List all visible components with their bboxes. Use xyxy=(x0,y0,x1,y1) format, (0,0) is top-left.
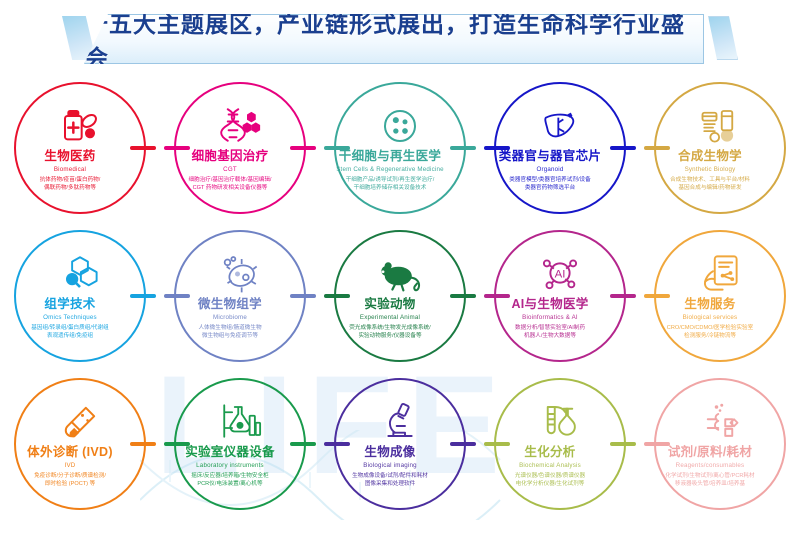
zone-desc-line-1: 合成生物技术、工具与平台/材料 xyxy=(634,176,786,185)
microscope-icon xyxy=(380,396,420,442)
zone-cell: 合成生物学 Synthetic Biology 合成生物技术、工具与平台/材料 … xyxy=(640,78,800,226)
zone-name-cn: 生化分析 xyxy=(474,445,626,459)
dna-helix-cells-icon xyxy=(219,100,261,146)
zone-desc-line-2: 基因合成与编辑/药物研发 xyxy=(634,184,786,193)
molecule-magnifier-icon xyxy=(59,248,101,294)
zone-description: 数据分析/智慧实验室/AI制药 机器人/生物大数据等 xyxy=(474,324,626,341)
zone-name-cn: 实验动物 xyxy=(314,297,466,311)
zone-labels: 组学技术 Omics Techniques 基因组/转录组/蛋白质组/代谢组 表… xyxy=(0,297,146,341)
zone-name-cn: 体外诊断 (IVD) xyxy=(0,445,146,459)
zone-description: 干细胞产品/诱导试剂/再生医学治疗/ 干细胞培养储存相关设备技术 xyxy=(314,176,466,193)
zone-desc-line-1: 化学试剂/生物试剂/离心管/PCR耗材 xyxy=(634,472,786,481)
zone-labels: 干细胞与再生医学 Stem Cells & Regenerative Medic… xyxy=(314,149,466,193)
zone-name-en: Omics Techniques xyxy=(0,313,146,322)
medicine-bottle-pill-icon xyxy=(60,100,100,146)
zone-desc-line-2: 检测服务/冷链物流等 xyxy=(634,332,786,341)
zone-name-cn: 试剂/原料/耗材 xyxy=(634,445,786,459)
svg-text:AI: AI xyxy=(555,268,566,280)
zone-circle-stem-cells[interactable]: 干细胞与再生医学 Stem Cells & Regenerative Medic… xyxy=(334,82,466,214)
zone-desc-line-1: 光谱仪器/色谱仪器/质谱仪器 xyxy=(474,472,626,481)
zone-description: 合成生物技术、工具与平台/材料 基因合成与编辑/药物研发 xyxy=(634,176,786,193)
zone-name-en: Reagents/consumables xyxy=(634,461,786,470)
zone-description: 摇床/反应器/培养箱/生物安全柜 PCR仪/电泳装置/离心机等 xyxy=(154,472,306,489)
zone-desc-line-1: 荧光成像系统/生物发光成像系统/ xyxy=(314,324,466,333)
zone-desc-line-1: 数据分析/智慧实验室/AI制药 xyxy=(474,324,626,333)
header-banner: 十五大主题展区，产业链形式展出，打造生命科学行业盛会 xyxy=(62,14,738,62)
zone-circle-organoid[interactable]: 类器官与器官芯片 Organoid 类器官模型/类器官培养试剂/设备 类器官药物… xyxy=(494,82,626,214)
zone-labels: 细胞基因治疗 CGT 细胞治疗/基因治疗载体/基因编辑/ CGT 药物研发相关设… xyxy=(154,149,306,193)
zone-circle-omics[interactable]: 组学技术 Omics Techniques 基因组/转录组/蛋白质组/代谢组 表… xyxy=(14,230,146,362)
zone-cell: 实验室仪器设备 Laboratory instruments 摇床/反应器/培养… xyxy=(160,374,320,522)
zone-name-cn: 生物医药 xyxy=(0,149,146,163)
zone-labels: 生物医药 Biomedical 抗体药物/疫苗/蛋白药物/ 偶联药物/多肽药物等 xyxy=(0,149,146,193)
zone-circle-cgt[interactable]: 细胞基因治疗 CGT 细胞治疗/基因治疗载体/基因编辑/ CGT 药物研发相关设… xyxy=(174,82,306,214)
zone-name-cn: AI与生物医学 xyxy=(474,297,626,311)
zone-circle-biomedical[interactable]: 生物医药 Biomedical 抗体药物/疫苗/蛋白药物/ 偶联药物/多肽药物等 xyxy=(14,82,146,214)
zone-cell: 生物医药 Biomedical 抗体药物/疫苗/蛋白药物/ 偶联药物/多肽药物等 xyxy=(0,78,160,226)
zone-circle-experimental-animal[interactable]: 实验动物 Experimental Animal 荧光成像系统/生物发光成像系统… xyxy=(334,230,466,362)
zone-desc-line-1: 干细胞产品/诱导试剂/再生医学治疗/ xyxy=(314,176,466,185)
zone-desc-line-2: 机器人/生物大数据等 xyxy=(474,332,626,341)
zone-desc-line-1: 类器官模型/类器官培养试剂/设备 xyxy=(474,176,626,185)
zone-cell: AI AI与生物医学 Bioinformatics & AI 数据分析/智慧实验… xyxy=(480,226,640,374)
zone-cell: 试剂/原料/耗材 Reagents/consumables 化学试剂/生物试剂/… xyxy=(640,374,800,522)
zone-desc-line-2: 电化学分析仪器/生化试剂等 xyxy=(474,480,626,489)
zone-cell: 生化分析 Biochemical Analysis 光谱仪器/色谱仪器/质谱仪器… xyxy=(480,374,640,522)
zone-circle-synthetic-biology[interactable]: 合成生物学 Synthetic Biology 合成生物技术、工具与平台/材料 … xyxy=(654,82,786,214)
zone-name-cn: 干细胞与再生医学 xyxy=(314,149,466,163)
zone-name-en: Organoid xyxy=(474,165,626,174)
zone-name-cn: 类器官与器官芯片 xyxy=(474,149,626,163)
test-tube-icon xyxy=(60,396,100,442)
zone-labels: 生化分析 Biochemical Analysis 光谱仪器/色谱仪器/质谱仪器… xyxy=(474,445,626,489)
zone-desc-line-1: 基因组/转录组/蛋白质组/代谢组 xyxy=(0,324,146,333)
zone-desc-line-2: 干细胞培养储存相关设备技术 xyxy=(314,184,466,193)
zone-desc-line-1: 免疫诊断/分子诊断/质谱检测/ xyxy=(0,472,146,481)
zones-grid: 生物医药 Biomedical 抗体药物/疫苗/蛋白药物/ 偶联药物/多肽药物等… xyxy=(0,78,800,528)
zone-labels: 体外诊断 (IVD) IVD 免疫诊断/分子诊断/质谱检测/ 即时检验 (POC… xyxy=(0,445,146,489)
zone-name-cn: 细胞基因治疗 xyxy=(154,149,306,163)
zone-desc-line-2: CGT 药物研发相关设备仪器等 xyxy=(154,184,306,193)
zone-name-en: Microbiome xyxy=(154,313,306,322)
zone-circle-ivd[interactable]: 体外诊断 (IVD) IVD 免疫诊断/分子诊断/质谱检测/ 即时检验 (POC… xyxy=(14,378,146,510)
zone-name-en: Biomedical xyxy=(0,165,146,174)
zone-circle-biochemical-analysis[interactable]: 生化分析 Biochemical Analysis 光谱仪器/色谱仪器/质谱仪器… xyxy=(494,378,626,510)
banner-right-decoration xyxy=(708,16,738,60)
page-title: 十五大主题展区，产业链形式展出，打造生命科学行业盛会 xyxy=(85,5,703,73)
zone-name-cn: 合成生物学 xyxy=(634,149,786,163)
zone-description: 光谱仪器/色谱仪器/质谱仪器 电化学分析仪器/生化试剂等 xyxy=(474,472,626,489)
zone-desc-line-2: 实验动物服务/仪器设备等 xyxy=(314,332,466,341)
zone-desc-line-1: 抗体药物/疫苗/蛋白药物/ xyxy=(0,176,146,185)
zone-desc-line-1: 人体微生物组/肠道微生物 xyxy=(154,324,306,333)
zone-description: 基因组/转录组/蛋白质组/代谢组 表观遗传组/免疫组 xyxy=(0,324,146,341)
zone-labels: 合成生物学 Synthetic Biology 合成生物技术、工具与平台/材料 … xyxy=(634,149,786,193)
zone-name-cn: 生物成像 xyxy=(314,445,466,459)
zone-cell: 类器官与器官芯片 Organoid 类器官模型/类器官培养试剂/设备 类器官药物… xyxy=(480,78,640,226)
zone-cell: 干细胞与再生医学 Stem Cells & Regenerative Medic… xyxy=(320,78,480,226)
zone-desc-line-2: 图像采集和处理软件 xyxy=(314,480,466,489)
bioreactor-flask-icon xyxy=(699,100,741,146)
pipette-tips-icon xyxy=(699,396,741,442)
zone-circle-biological-services[interactable]: 生物服务 Biological services CRO/CMO/CDMO/医学… xyxy=(654,230,786,362)
zone-cell: 细胞基因治疗 CGT 细胞治疗/基因治疗载体/基因编辑/ CGT 药物研发相关设… xyxy=(160,78,320,226)
zone-description: 荧光成像系统/生物发光成像系统/ 实验动物服务/仪器设备等 xyxy=(314,324,466,341)
zone-name-cn: 生物服务 xyxy=(634,297,786,311)
zone-desc-line-2: 微生物组与免疫调节等 xyxy=(154,332,306,341)
zone-description: CRO/CMO/CDMO/医学检验实验室 检测服务/冷链物流等 xyxy=(634,324,786,341)
zone-labels: 微生物组学 Microbiome 人体微生物组/肠道微生物 微生物组与免疫调节等 xyxy=(154,297,306,341)
zone-labels: 生物服务 Biological services CRO/CMO/CDMO/医学… xyxy=(634,297,786,341)
zone-description: 化学试剂/生物试剂/离心管/PCR耗材 移液器吸头管/培养皿/培养基 xyxy=(634,472,786,489)
zone-desc-line-1: CRO/CMO/CDMO/医学检验实验室 xyxy=(634,324,786,333)
zone-circle-microbiome[interactable]: 微生物组学 Microbiome 人体微生物组/肠道微生物 微生物组与免疫调节等 xyxy=(174,230,306,362)
zone-name-en: IVD xyxy=(0,461,146,470)
petri-dish-cells-icon xyxy=(380,100,420,146)
zone-circle-laboratory-instruments[interactable]: 实验室仪器设备 Laboratory instruments 摇床/反应器/培养… xyxy=(174,378,306,510)
zone-description: 抗体药物/疫苗/蛋白药物/ 偶联药物/多肽药物等 xyxy=(0,176,146,193)
zone-circle-reagents-consumables[interactable]: 试剂/原料/耗材 Reagents/consumables 化学试剂/生物试剂/… xyxy=(654,378,786,510)
zone-name-en: Bioinformatics & AI xyxy=(474,313,626,322)
zone-labels: 实验动物 Experimental Animal 荧光成像系统/生物发光成像系统… xyxy=(314,297,466,341)
zone-name-en: Biological imaging xyxy=(314,461,466,470)
microbe-bacteria-icon xyxy=(219,248,261,294)
zone-description: 人体微生物组/肠道微生物 微生物组与免疫调节等 xyxy=(154,324,306,341)
poster-page: LIFE 十五大主题展区，产业链形式展出，打造生命科学行业盛会 生物医药 Bio… xyxy=(0,0,800,534)
zone-desc-line-1: 生物成像设备/试剂/配件和耗材 xyxy=(314,472,466,481)
zone-desc-line-2: 类器官药物筛选平台 xyxy=(474,184,626,193)
zone-labels: AI与生物医学 Bioinformatics & AI 数据分析/智慧实验室/A… xyxy=(474,297,626,341)
zone-cell: 生物成像 Biological imaging 生物成像设备/试剂/配件和耗材 … xyxy=(320,374,480,522)
zone-desc-line-1: 摇床/反应器/培养箱/生物安全柜 xyxy=(154,472,306,481)
zone-name-en: Laboratory instruments xyxy=(154,461,306,470)
zone-desc-line-2: 移液器吸头管/培养皿/培养基 xyxy=(634,480,786,489)
zone-cell: 体外诊断 (IVD) IVD 免疫诊断/分子诊断/质谱检测/ 即时检验 (POC… xyxy=(0,374,160,522)
lab-apparatus-icon xyxy=(218,396,262,442)
banner-box: 十五大主题展区，产业链形式展出，打造生命科学行业盛会 xyxy=(84,14,704,64)
zone-name-en: Synthetic Biology xyxy=(634,165,786,174)
zone-desc-line-2: 即时检验 (POCT) 等 xyxy=(0,480,146,489)
zone-name-cn: 微生物组学 xyxy=(154,297,306,311)
flask-cylinder-icon xyxy=(539,396,581,442)
zone-desc-line-2: PCR仪/电泳装置/离心机等 xyxy=(154,480,306,489)
liver-organ-chip-icon xyxy=(539,100,581,146)
zone-cell: 实验动物 Experimental Animal 荧光成像系统/生物发光成像系统… xyxy=(320,226,480,374)
zone-name-en: CGT xyxy=(154,165,306,174)
lab-mouse-icon xyxy=(378,248,422,294)
zone-desc-line-2: 表观遗传组/免疫组 xyxy=(0,332,146,341)
zone-labels: 实验室仪器设备 Laboratory instruments 摇床/反应器/培养… xyxy=(154,445,306,489)
zone-description: 细胞治疗/基因治疗载体/基因编辑/ CGT 药物研发相关设备仪器等 xyxy=(154,176,306,193)
zone-desc-line-2: 偶联药物/多肽药物等 xyxy=(0,184,146,193)
zone-labels: 生物成像 Biological imaging 生物成像设备/试剂/配件和耗材 … xyxy=(314,445,466,489)
zone-labels: 类器官与器官芯片 Organoid 类器官模型/类器官培养试剂/设备 类器官药物… xyxy=(474,149,626,193)
zone-circle-ai-biomedicine[interactable]: AI AI与生物医学 Bioinformatics & AI 数据分析/智慧实验… xyxy=(494,230,626,362)
zone-description: 类器官模型/类器官培养试剂/设备 类器官药物筛选平台 xyxy=(474,176,626,193)
zone-name-en: Experimental Animal xyxy=(314,313,466,322)
zone-cell: 微生物组学 Microbiome 人体微生物组/肠道微生物 微生物组与免疫调节等 xyxy=(160,226,320,374)
zone-description: 生物成像设备/试剂/配件和耗材 图像采集和处理软件 xyxy=(314,472,466,489)
hand-report-icon xyxy=(699,248,741,294)
zone-name-cn: 实验室仪器设备 xyxy=(154,445,306,459)
zone-description: 免疫诊断/分子诊断/质谱检测/ 即时检验 (POCT) 等 xyxy=(0,472,146,489)
zone-name-cn: 组学技术 xyxy=(0,297,146,311)
zone-cell: 组学技术 Omics Techniques 基因组/转录组/蛋白质组/代谢组 表… xyxy=(0,226,160,374)
zone-cell: 生物服务 Biological services CRO/CMO/CDMO/医学… xyxy=(640,226,800,374)
zone-circle-biological-imaging[interactable]: 生物成像 Biological imaging 生物成像设备/试剂/配件和耗材 … xyxy=(334,378,466,510)
zone-desc-line-1: 细胞治疗/基因治疗载体/基因编辑/ xyxy=(154,176,306,185)
zone-labels: 试剂/原料/耗材 Reagents/consumables 化学试剂/生物试剂/… xyxy=(634,445,786,489)
zone-name-en: Biological services xyxy=(634,313,786,322)
zone-name-en: Stem Cells & Regenerative Medicine xyxy=(314,165,466,174)
ai-network-icon: AI xyxy=(539,248,581,294)
zone-name-en: Biochemical Analysis xyxy=(474,461,626,470)
